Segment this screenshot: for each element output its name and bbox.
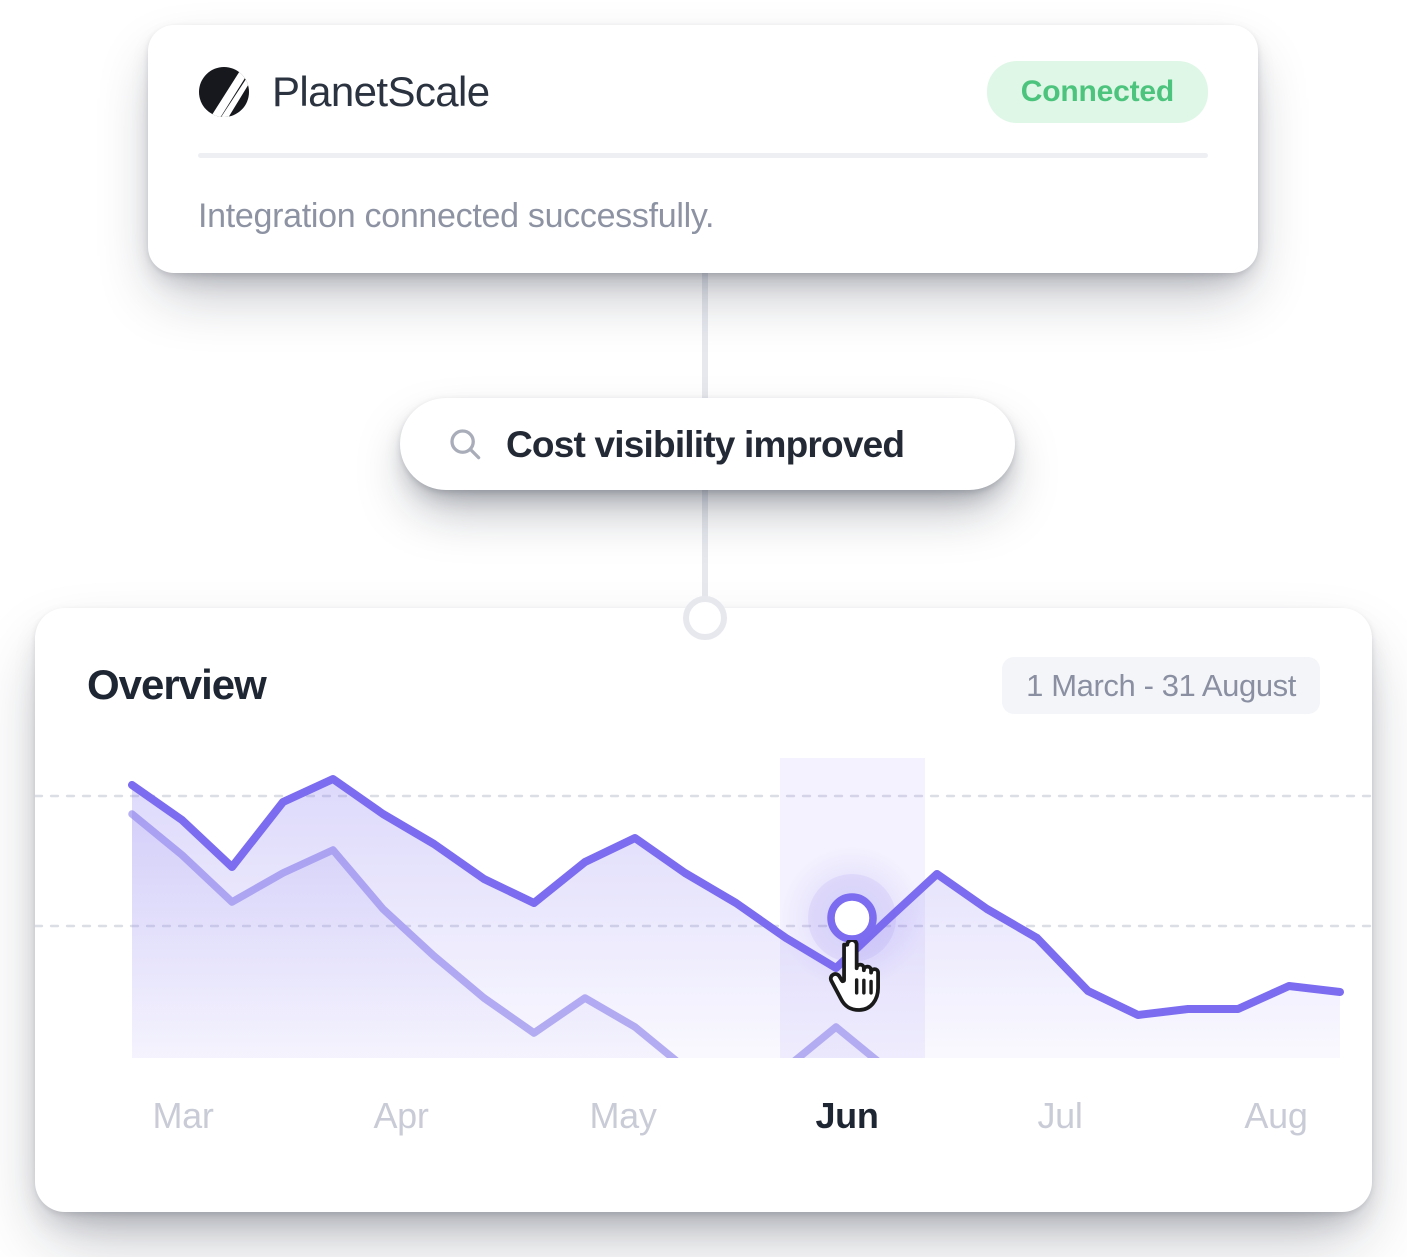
pill-label: Cost visibility improved	[506, 426, 904, 463]
hover-marker[interactable]	[780, 846, 924, 990]
date-range-chip[interactable]: 1 March - 31 August	[1002, 657, 1320, 714]
cost-visibility-pill[interactable]: Cost visibility improved	[400, 398, 1015, 490]
area-chart-svg[interactable]	[35, 758, 1372, 1058]
series-primary	[132, 779, 1340, 1058]
integration-card-header: PlanetScale Connected	[198, 51, 1208, 133]
chart-x-axis: Mar Apr May Jun Jul Aug	[35, 1098, 1372, 1158]
x-tick-jul[interactable]: Jul	[1037, 1098, 1082, 1134]
connector-node-icon	[683, 596, 727, 640]
status-badge: Connected	[987, 61, 1208, 123]
brand: PlanetScale	[198, 66, 490, 118]
x-tick-mar[interactable]: Mar	[152, 1098, 213, 1134]
page-title: Overview	[87, 664, 266, 706]
overview-chart-card: Overview 1 March - 31 August	[35, 608, 1372, 1212]
x-tick-may[interactable]: May	[589, 1098, 656, 1134]
x-tick-jun-active[interactable]: Jun	[815, 1098, 878, 1134]
search-icon	[446, 425, 484, 463]
chart-header: Overview 1 March - 31 August	[87, 654, 1320, 716]
chart-plot-area[interactable]	[35, 758, 1372, 1058]
x-tick-apr[interactable]: Apr	[373, 1098, 428, 1134]
planetscale-logo-icon	[198, 66, 250, 118]
integration-card: PlanetScale Connected Integration connec…	[148, 25, 1258, 273]
scene-root: PlanetScale Connected Integration connec…	[0, 0, 1407, 1257]
integration-message: Integration connected successfully.	[198, 196, 1208, 237]
x-tick-aug[interactable]: Aug	[1244, 1098, 1307, 1134]
brand-name: PlanetScale	[272, 71, 490, 113]
card-divider	[198, 153, 1208, 158]
